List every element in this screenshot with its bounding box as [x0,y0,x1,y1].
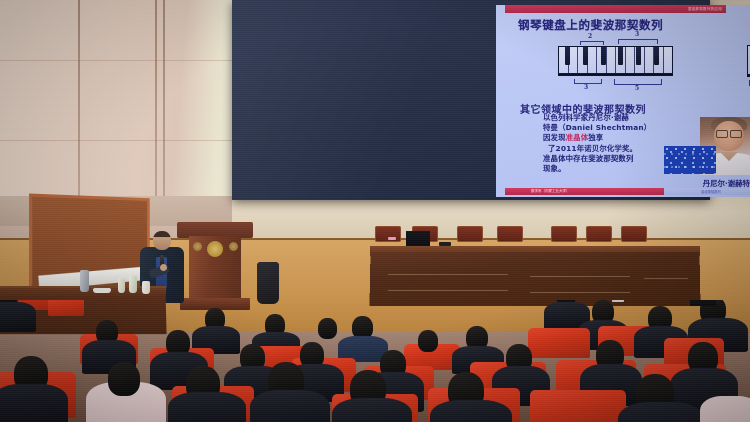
slide-footer-left-text: 数学系（内蒙工业大学） [531,189,570,194]
body-left-line-3: 因发现准晶体独享 [543,133,678,143]
conference-table-front [370,252,701,306]
water-bottle-1 [118,278,125,293]
body-left-highlight-quasicrystal: 准晶体 [566,133,589,142]
podium [177,222,253,312]
slide-title: 钢琴键盘上的斐波那契数列 [518,17,663,33]
brace-label-bottom-2: 5 [635,85,639,92]
lecture-hall-photo: 斐波那契数列的应用 钢琴键盘上的斐波那契数列 2 3 [0,0,750,422]
slide-footer: 数学系（内蒙工业大学） 斐波那契数列 2025/11/17 9/46 [505,188,750,195]
stage-back-wall [232,196,750,244]
quasicrystal-diffraction-pattern [664,146,716,174]
water-bottle-2 [129,276,137,293]
brace-label-bottom-1: 3 [584,84,588,91]
slide-body-left: 以色列科学家丹尼尔·谢赫 特曼（Daniel Shechtman） 因发现准晶体… [543,113,678,174]
paper-cup [142,281,150,294]
slide-footer-red-block [505,188,664,195]
paper-sheet [93,288,111,293]
slide-subtitle: 其它领域中的斐波那契数列 [520,101,646,116]
body-left-line-5: 准晶体中存在斐波那契数列 [543,154,678,164]
body-left-line-3-post: 独享 [588,133,603,142]
brace-label-top-1: 2 [588,33,592,40]
body-left-line-2: 特曼（Daniel Shechtman） [543,123,678,133]
glasses-icon [716,130,742,136]
slide-footer-middle-text: 斐波那契数列 [701,189,721,194]
slide-banner-text: 斐波那契数列的应用 [688,7,722,12]
left-wall-panels [0,0,232,208]
slide-top-banner: 斐波那契数列的应用 [505,5,726,13]
body-left-line-3-pre: 因发现 [543,133,566,142]
presentation-slide: 斐波那契数列的应用 钢琴键盘上的斐波那契数列 2 3 [496,5,750,197]
brace-label-top-2: 3 [635,31,639,38]
body-left-line-4: 了2011年诺贝尔化学奖。 [543,144,678,154]
bag-on-floor [257,262,279,304]
audience [0,300,750,422]
thermos-bottle [80,270,89,292]
body-left-line-6: 现象。 [543,164,678,174]
portrait-daniel-shechtman [700,117,750,175]
laptop-on-table [406,231,430,247]
body-left-line-1: 以色列科学家丹尼尔·谢赫 [543,113,678,123]
podium-emblem-icon [207,241,223,257]
projection-screen-frame: 斐波那契数列的应用 钢琴键盘上的斐波那契数列 2 3 [232,0,710,200]
